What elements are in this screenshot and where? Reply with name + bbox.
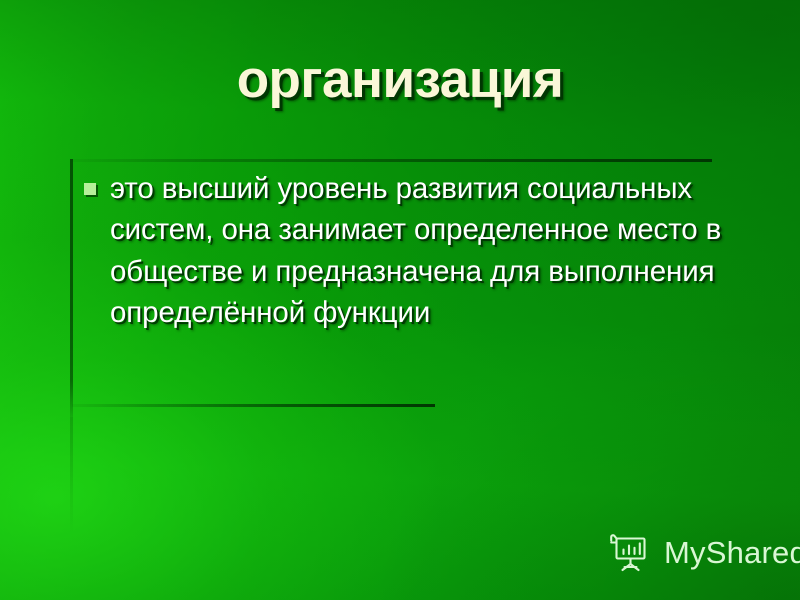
presentation-chart-icon <box>608 531 654 573</box>
myshared-label: MyShared <box>664 537 800 568</box>
bullet-list-item: это высший уровень развития социальных с… <box>84 168 724 333</box>
divider-line-left-fade <box>70 417 73 535</box>
divider-line-left <box>70 159 73 417</box>
divider-line-bottom <box>72 404 435 407</box>
slide-body: это высший уровень развития социальных с… <box>84 168 724 333</box>
bullet-item-text: это высший уровень развития социальных с… <box>110 168 724 333</box>
presentation-slide: организация это высший уровень развития … <box>0 0 800 600</box>
slide-title: организация <box>0 52 800 108</box>
divider-line-top <box>72 159 712 162</box>
myshared-watermark: MyShared <box>608 531 800 573</box>
square-bullet-icon <box>84 183 96 195</box>
